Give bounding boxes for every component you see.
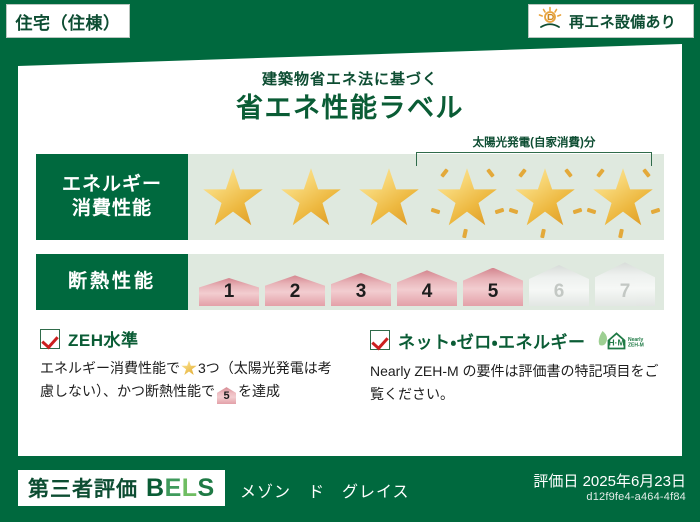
house-level-list: 1234567 — [188, 254, 664, 310]
zeh-standard-heading: ZEH水準 — [40, 326, 340, 351]
energy-performance-row: エネルギー 消費性能 太陽光発電(自家消費)分 — [36, 154, 664, 240]
solar-ray-icon — [431, 208, 441, 215]
solar-ray-icon — [462, 229, 468, 239]
label-footer: 第三者評価 BELS メゾン ド グレイス 評価日 2025年6月23日 d12… — [0, 460, 700, 522]
star-icon — [358, 167, 420, 229]
energy-performance-row-label: エネルギー 消費性能 — [36, 154, 188, 240]
insulation-performance-row-label: 断熱性能 — [36, 254, 188, 310]
building-type-label: 住宅（住棟） — [16, 9, 121, 34]
house-level-number: 5 — [488, 282, 499, 306]
zeh-body-part1: エネルギー消費性能で — [40, 360, 180, 376]
house-level-item: 5 — [460, 258, 526, 306]
bels-wordmark: BELS — [146, 474, 215, 503]
zeh-body-star-count: 3つ（太陽光発電 — [198, 360, 304, 376]
solar-ray-icon — [618, 229, 624, 239]
star-icon — [202, 167, 264, 229]
solar-bracket-label: 太陽光発電(自家消費)分 — [416, 134, 652, 150]
house-level-item: 1 — [196, 258, 262, 306]
renewable-equipment-badge: 再エネ設備あり — [528, 4, 694, 38]
star-icon — [280, 167, 342, 229]
solar-ray-icon — [540, 229, 546, 239]
solar-ray-icon — [573, 208, 583, 215]
solar-ray-icon — [495, 208, 505, 215]
zeh-checkbox-icon — [40, 329, 60, 349]
solar-ray-icon — [651, 208, 661, 215]
solar-ray-icon — [564, 168, 573, 178]
energy-star-rating: 太陽光発電(自家消費)分 — [188, 154, 664, 240]
house-level-item: 6 — [526, 258, 592, 306]
inline-house-icon: 5 — [217, 387, 236, 404]
house-icon: 3 — [331, 273, 391, 306]
bels-letter-e: E — [165, 474, 182, 502]
house-level-number: 1 — [224, 282, 235, 306]
energy-performance-label: 住宅（住棟） 再エネ設備あり 建築物省エネ法に基づく — [0, 0, 700, 522]
page-title: 省エネ性能ラベル — [18, 86, 682, 125]
building-name: メゾン ド グレイス — [240, 478, 410, 502]
solar-sun-icon — [537, 6, 563, 37]
insulation-performance-row: 断熱性能 1234567 — [36, 254, 664, 310]
star-icon — [592, 167, 654, 229]
net-zero-heading: ネット・ゼロ・エネルギー H·M Nearly ZEH-M — [370, 326, 670, 354]
house-level-number: 7 — [620, 282, 631, 306]
insulation-rating: 1234567 — [188, 254, 664, 310]
house-level-number: 3 — [356, 282, 367, 306]
solar-ray-icon — [509, 208, 519, 215]
label-content-panel: 建築物省エネ法に基づく 省エネ性能ラベル エネルギー 消費性能 太陽光発電(自家… — [18, 44, 682, 456]
house-icon: 6 — [529, 265, 589, 306]
house-icon: 4 — [397, 270, 457, 306]
star-item — [350, 157, 428, 237]
bels-letter-s: S — [198, 474, 215, 502]
house-level-item: 3 — [328, 258, 394, 306]
solar-ray-icon — [518, 168, 527, 178]
house-level-item: 4 — [394, 258, 460, 306]
zeh-standard-title: ZEH水準 — [68, 326, 139, 351]
bels-certification-mark: 第三者評価 BELS — [18, 470, 225, 506]
house-level-item: 2 — [262, 258, 328, 306]
net-zero-body: Nearly ZEH-M の要件は評価書の特記項目をご覧ください。 — [370, 360, 670, 406]
house-icon: 1 — [199, 278, 259, 306]
net-zero-checkbox-icon — [370, 330, 390, 350]
star-icon — [514, 167, 576, 229]
house-level-item: 7 — [592, 258, 658, 306]
house-icon: 7 — [595, 262, 655, 306]
star-item — [428, 157, 506, 237]
star-item — [584, 157, 662, 237]
house-icon: 2 — [265, 275, 325, 306]
house-level-number: 6 — [554, 282, 565, 306]
bels-letter-b: B — [146, 474, 165, 502]
svg-text:ZEH-M: ZEH-M — [628, 343, 644, 349]
nearly-zeh-m-logo: H·M Nearly ZEH-M — [598, 326, 646, 354]
solar-ray-icon — [440, 168, 449, 178]
zeh-body-part3: を達成 — [238, 383, 280, 399]
bels-letter-l: L — [182, 474, 198, 502]
star-item — [506, 157, 584, 237]
evaluation-id: d12f9fe4-a464-4f84 — [586, 491, 686, 503]
net-zero-energy-block: ネット・ゼロ・エネルギー H·M Nearly ZEH-M Nearly ZEH… — [370, 326, 670, 406]
house-icon: 5 — [463, 268, 523, 306]
net-zero-title: ネット・ゼロ・エネルギー — [398, 328, 586, 353]
zeh-standard-body: エネルギー消費性能で3つ（太陽光発電は考慮しない）、かつ断熱性能で5を達成 — [40, 357, 340, 404]
house-level-number: 2 — [290, 282, 301, 306]
evaluation-date: 評価日 2025年6月23日 — [533, 470, 686, 491]
star-item — [272, 157, 350, 237]
star-list — [188, 154, 664, 240]
building-type-badge: 住宅（住棟） — [6, 4, 130, 38]
solar-ray-icon — [587, 208, 597, 215]
renewable-equipment-label: 再エネ設備あり — [569, 11, 676, 32]
house-level-number: 4 — [422, 282, 433, 306]
star-item — [194, 157, 272, 237]
zeh-standard-block: ZEH水準 エネルギー消費性能で3つ（太陽光発電は考慮しない）、かつ断熱性能で5… — [40, 326, 340, 404]
inline-star-icon — [181, 360, 197, 376]
third-party-eval-label: 第三者評価 — [28, 473, 138, 503]
solar-ray-icon — [486, 168, 495, 178]
star-icon — [436, 167, 498, 229]
solar-ray-icon — [596, 168, 605, 178]
solar-ray-icon — [642, 168, 651, 178]
svg-text:H·M: H·M — [608, 338, 624, 348]
